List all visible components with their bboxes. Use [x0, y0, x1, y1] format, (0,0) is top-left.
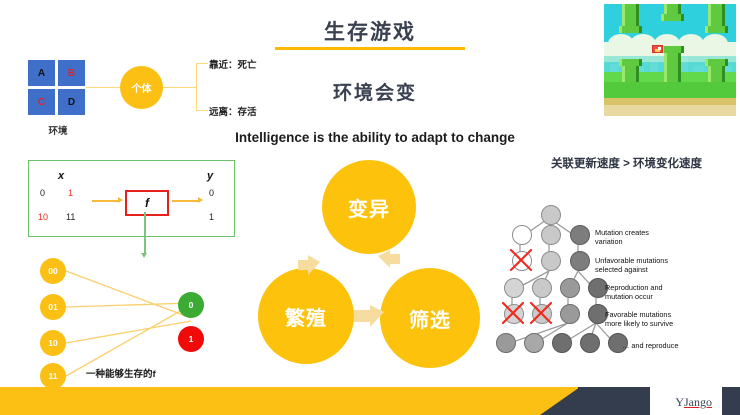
branch-arm-top [196, 63, 208, 64]
environment-grid: A B C D [28, 60, 86, 116]
bird-eye [658, 47, 661, 50]
pipe-cap [619, 26, 642, 33]
ground-band [604, 82, 736, 98]
pipe-top [622, 4, 639, 26]
brand-logo: YJango [675, 395, 712, 410]
f-box: f [125, 190, 169, 216]
x-value-10: 10 [38, 212, 48, 222]
environment-label: 环境 [20, 123, 96, 137]
pipe-top [664, 4, 681, 14]
pipe-bottom [664, 53, 681, 84]
tree-label-favorable: Favorable mutations more likely to survi… [605, 310, 673, 329]
y-value-0: 0 [209, 188, 214, 198]
f-to-y-arrowhead [198, 197, 203, 203]
bit-input-11: 11 [40, 363, 66, 389]
pipe-cap [661, 14, 684, 21]
individual-to-branch-connector [163, 87, 197, 88]
slide-canvas: 生存游戏 [0, 0, 740, 415]
footer-dark-bar-right [722, 387, 740, 415]
branch-arm-bottom [196, 110, 208, 111]
x-to-f-arrow [92, 200, 118, 202]
english-tagline: Intelligence is the ability to adapt to … [150, 130, 600, 145]
tree-label-mutation: Mutation creates variation [595, 228, 649, 247]
bit-output-0: 0 [178, 292, 204, 318]
bit-mapping-caption: 一种能够生存的f [86, 366, 156, 380]
title-underline [275, 47, 465, 50]
tree-label-unfavorable: Unfavorable mutations selected against [595, 256, 668, 275]
x-value-00: 0 [40, 188, 45, 198]
x-header: x [58, 170, 64, 182]
individual-node: 个体 [120, 66, 163, 109]
dirt-band [604, 98, 736, 105]
f-to-y-arrow [172, 200, 198, 202]
grid-to-individual-connector [86, 87, 120, 88]
flappy-bird-screenshot [604, 4, 736, 116]
env-cell-c: C [28, 89, 55, 115]
env-cell-a: A [28, 60, 55, 86]
x-to-f-arrowhead [118, 197, 123, 203]
x-value-01: 1 [68, 188, 73, 198]
branch-spine [196, 63, 197, 111]
tree-label-reproduce: … and reproduce [622, 341, 678, 350]
outcome-near-label: 靠近：死亡 [209, 57, 257, 71]
tree-label-reproduction: Reproduction and mutation occur [605, 283, 663, 302]
pipe-cap [705, 26, 728, 33]
pipe-top [708, 4, 725, 26]
bit-input-01: 01 [40, 294, 66, 320]
pipe-cap [619, 59, 642, 66]
outcome-far-label: 远离：存活 [209, 104, 257, 118]
bit-input-00: 00 [40, 258, 66, 284]
dirt-band-light [604, 105, 736, 116]
sub-heading: 环境会变 [250, 78, 500, 105]
env-cell-b: B [58, 60, 85, 86]
y-value-1: 1 [209, 212, 214, 222]
bit-input-10: 10 [40, 330, 66, 356]
bit-output-1: 1 [178, 326, 204, 352]
x-value-11: 11 [66, 212, 75, 222]
cycle-arrows [250, 150, 500, 380]
pipe-cap [661, 46, 684, 53]
inequality-label: 关联更新速度 > 环境变化速度 [524, 155, 729, 171]
brand-underlined: Jango [684, 395, 712, 409]
footer-dark-bar [578, 387, 650, 415]
bird-sprite [652, 45, 663, 53]
footer-accent-bar [0, 387, 580, 415]
env-cell-d: D [58, 89, 85, 115]
y-header: y [207, 170, 213, 182]
pipe-cap [705, 59, 728, 66]
